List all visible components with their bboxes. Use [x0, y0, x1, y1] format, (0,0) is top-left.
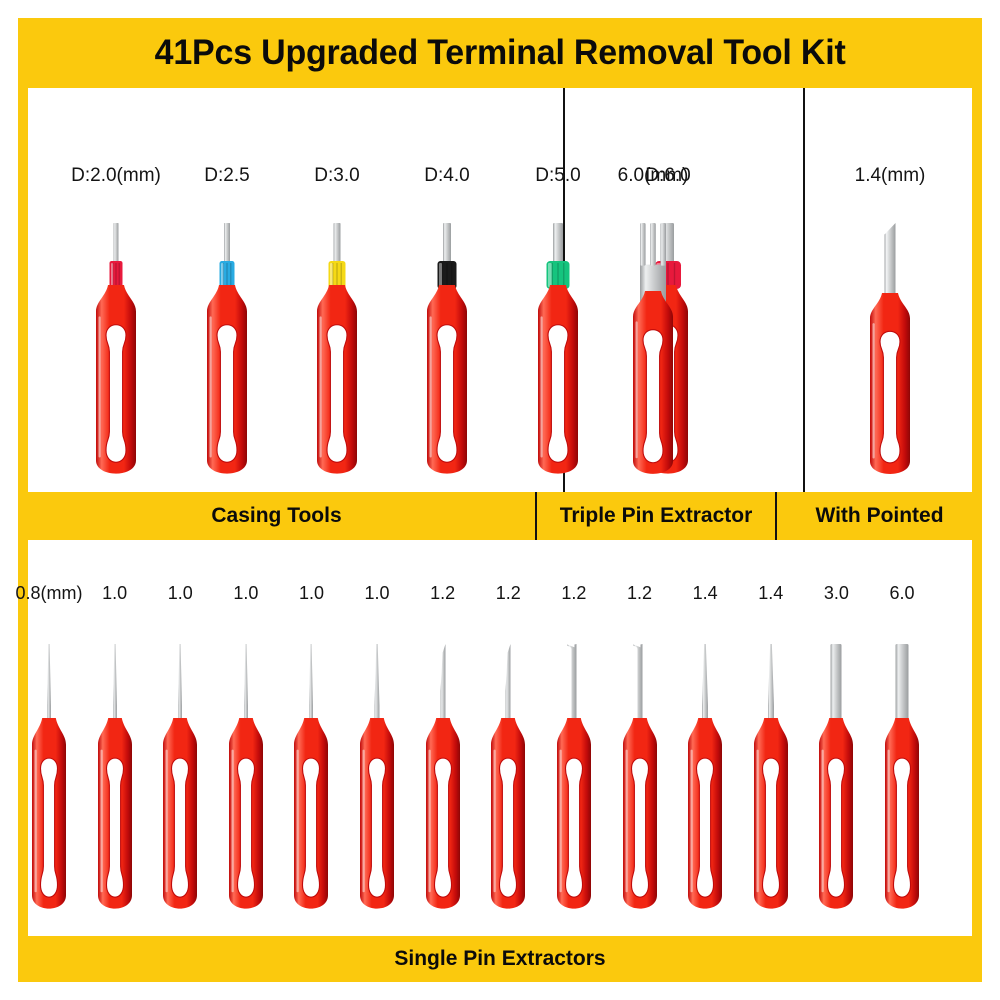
tool-illustration: [412, 644, 474, 916]
tool-illustration: [674, 644, 736, 916]
tool-size-label: 1.4: [693, 584, 718, 602]
tool-item-single-pin-extractors-3[interactable]: 1.0: [149, 584, 211, 916]
tool-size-label: 1.0: [102, 584, 127, 602]
tool-art-wrapper: [740, 644, 802, 916]
tool-illustration: [805, 644, 867, 916]
tool-item-single-pin-extractors-9[interactable]: 1.2: [543, 584, 605, 916]
tool-size-label: D:2.0(mm): [71, 166, 161, 185]
tool-art-wrapper: [674, 644, 736, 916]
tool-item-casing-tools-3[interactable]: D:3.0: [298, 166, 376, 483]
tool-art-wrapper: [477, 644, 539, 916]
tool-item-single-pin-extractors-10[interactable]: 1.2: [609, 584, 671, 916]
tool-art-wrapper: [149, 644, 211, 916]
tool-art-wrapper: [84, 644, 146, 916]
tool-art-wrapper: [280, 644, 342, 916]
tool-size-label: 1.2: [627, 584, 652, 602]
tool-size-label: D:3.0: [314, 166, 359, 185]
tool-art-wrapper: [188, 223, 266, 483]
tool-size-label: 1.0: [299, 584, 324, 602]
tool-item-single-pin-extractors-11[interactable]: 1.4: [674, 584, 736, 916]
tool-illustration: [77, 223, 155, 483]
tool-illustration: [543, 644, 605, 916]
tool-illustration: [477, 644, 539, 916]
tool-illustration: [519, 223, 597, 483]
tool-size-label: 1.4: [758, 584, 783, 602]
tool-illustration: [851, 223, 929, 483]
tool-size-label: 6.0(mm): [618, 166, 689, 185]
tool-illustration: [614, 223, 692, 483]
tool-item-with-pointed-1[interactable]: 1.4(mm): [851, 166, 929, 483]
tool-size-label: 1.2: [430, 584, 455, 602]
tool-size-label: 6.0: [889, 584, 914, 602]
tool-item-casing-tools-2[interactable]: D:2.5: [188, 166, 266, 483]
tool-size-label: 1.2: [496, 584, 521, 602]
tool-art-wrapper: [77, 223, 155, 483]
tool-illustration: [346, 644, 408, 916]
tool-size-label: 0.8(mm): [16, 584, 83, 602]
tool-illustration: [740, 644, 802, 916]
tool-item-single-pin-extractors-8[interactable]: 1.2: [477, 584, 539, 916]
tool-art-wrapper: [614, 223, 692, 483]
tool-item-single-pin-extractors-13[interactable]: 3.0: [805, 584, 867, 916]
tool-size-label: D:5.0: [535, 166, 580, 185]
tool-size-label: 3.0: [824, 584, 849, 602]
tool-illustration: [188, 223, 266, 483]
tool-illustration: [18, 644, 80, 916]
tool-art-wrapper: [346, 644, 408, 916]
tool-item-single-pin-extractors-5[interactable]: 1.0: [280, 584, 342, 916]
category-label-triple-pin-extractor: Triple Pin Extractor: [537, 492, 775, 540]
section-divider-2: [803, 88, 805, 492]
category-band: Casing Tools Triple Pin Extractor With P…: [18, 492, 982, 540]
tool-illustration: [609, 644, 671, 916]
tool-illustration: [84, 644, 146, 916]
tool-art-wrapper: [18, 644, 80, 916]
tool-illustration: [280, 644, 342, 916]
tool-size-label: 1.2: [561, 584, 586, 602]
tool-art-wrapper: [543, 644, 605, 916]
bottom-panel: 0.8(mm)1.01.01.01.01.01.21.21.21.21.41.4…: [28, 540, 972, 936]
tool-item-single-pin-extractors-1[interactable]: 0.8(mm): [18, 584, 80, 916]
tool-illustration: [298, 223, 376, 483]
tool-art-wrapper: [408, 223, 486, 483]
tool-illustration: [408, 223, 486, 483]
tool-item-casing-tools-5[interactable]: D:5.0: [519, 166, 597, 483]
tool-illustration: [149, 644, 211, 916]
tool-size-label: 1.0: [168, 584, 193, 602]
tool-item-triple-pin-extractor-1[interactable]: 6.0(mm): [614, 166, 692, 483]
page-title: 41Pcs Upgraded Terminal Removal Tool Kit: [155, 33, 846, 73]
footer-label: Single Pin Extractors: [394, 947, 605, 971]
tool-art-wrapper: [519, 223, 597, 483]
tool-size-label: 1.0: [233, 584, 258, 602]
top-panel: D:2.0(mm)D:2.5D:3.0D:4.0D:5.0D:6.06.0(mm…: [28, 88, 972, 492]
tool-item-single-pin-extractors-4[interactable]: 1.0: [215, 584, 277, 916]
tool-item-single-pin-extractors-12[interactable]: 1.4: [740, 584, 802, 916]
product-infographic: 41Pcs Upgraded Terminal Removal Tool Kit…: [0, 0, 1000, 1000]
tool-art-wrapper: [298, 223, 376, 483]
tool-illustration: [215, 644, 277, 916]
tool-item-single-pin-extractors-2[interactable]: 1.0: [84, 584, 146, 916]
tool-item-single-pin-extractors-14[interactable]: 6.0: [871, 584, 933, 916]
tool-size-label: 1.0: [365, 584, 390, 602]
tool-item-casing-tools-1[interactable]: D:2.0(mm): [77, 166, 155, 483]
tool-art-wrapper: [805, 644, 867, 916]
tool-art-wrapper: [412, 644, 474, 916]
tool-item-casing-tools-4[interactable]: D:4.0: [408, 166, 486, 483]
tool-art-wrapper: [215, 644, 277, 916]
tool-item-single-pin-extractors-7[interactable]: 1.2: [412, 584, 474, 916]
tool-size-label: D:4.0: [424, 166, 469, 185]
footer-band: Single Pin Extractors: [18, 936, 982, 982]
tool-size-label: 1.4(mm): [855, 166, 926, 185]
tool-item-single-pin-extractors-6[interactable]: 1.0: [346, 584, 408, 916]
tool-art-wrapper: [871, 644, 933, 916]
tool-art-wrapper: [851, 223, 929, 483]
tool-art-wrapper: [609, 644, 671, 916]
tool-illustration: [871, 644, 933, 916]
header-band: 41Pcs Upgraded Terminal Removal Tool Kit: [18, 18, 982, 88]
category-label-casing-tools: Casing Tools: [18, 492, 535, 540]
category-label-with-pointed: With Pointed: [777, 492, 982, 540]
tool-size-label: D:2.5: [204, 166, 249, 185]
